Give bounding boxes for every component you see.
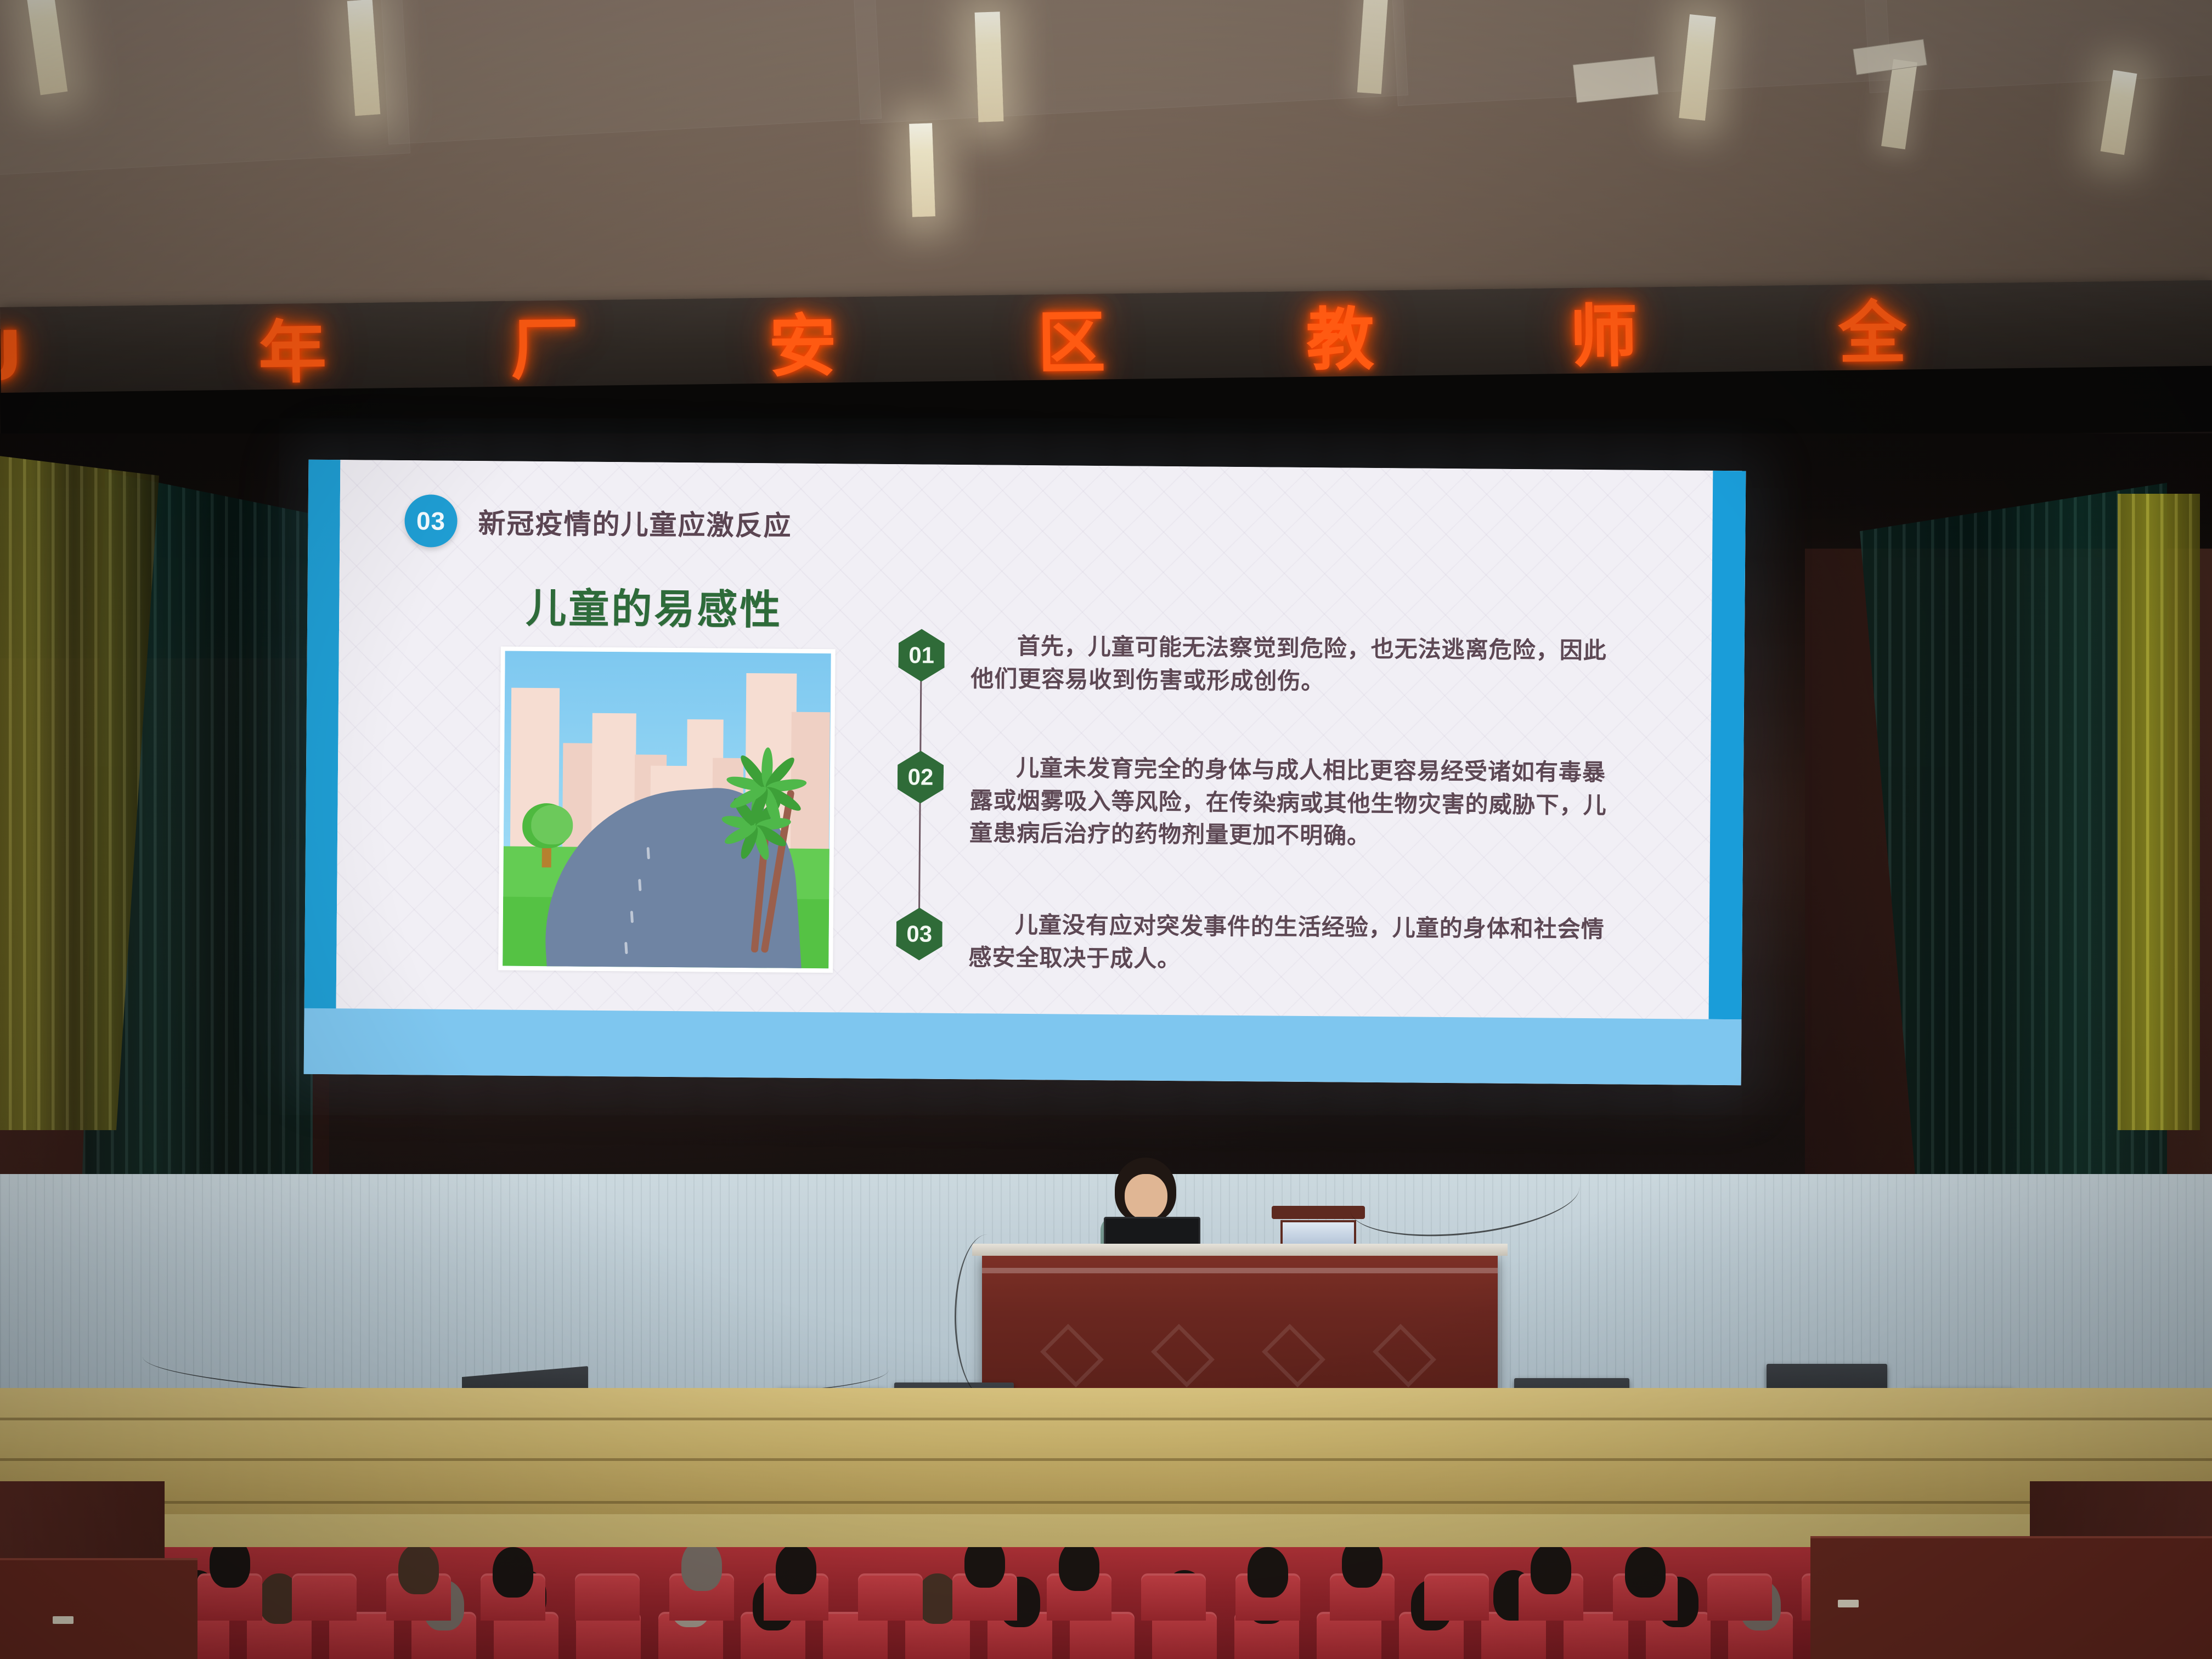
slide-content-area: 03 新冠疫情的儿童应激反应 儿童的易感性 (336, 460, 1746, 1085)
auditorium-seat (1707, 1573, 1772, 1621)
timeline-hexagon-badge: 02 (898, 751, 944, 804)
led-banner-character: 厂 (510, 315, 579, 385)
ceiling-light-icon (975, 12, 1004, 122)
aisle-lamp (53, 1616, 74, 1624)
led-banner-character: 区 (1037, 309, 1106, 378)
audience-member (493, 1547, 533, 1598)
ceiling-light-icon (2101, 70, 2137, 155)
slide-accent-bar-left (304, 460, 341, 1074)
timeline-item: 01 首先，儿童可能无法察觉到危险，也无法逃离危险，因此他们更容易收到伤害或形成… (898, 629, 1618, 700)
auditorium-photo: U年厂安区教师全 03 新冠疫情的儿童应激反应 (0, 0, 2212, 1659)
aisle-rail-right (1810, 1536, 2212, 1659)
timeline-item-text: 儿童未发育完全的身体与成人相比更容易经受诸如有毒暴露或烟雾吸入等风险，在传染病或… (969, 751, 1617, 854)
timeline-hexagon-badge: 03 (896, 907, 943, 961)
stage-curtain-yellow-right (2118, 494, 2200, 1130)
ceiling-light-icon (909, 123, 935, 217)
slide-header: 03 新冠疫情的儿童应激反应 (404, 494, 792, 550)
slide-accent-bar-right (1709, 471, 1746, 1019)
aisle-lamp (1838, 1600, 1859, 1607)
projection-screen: 03 新冠疫情的儿童应激反应 儿童的易感性 (304, 460, 1746, 1086)
timeline-hexagon-badge: 01 (898, 629, 945, 682)
auditorium-seat (575, 1573, 640, 1621)
audience-member (1531, 1547, 1571, 1594)
audience-member (210, 1547, 250, 1588)
timeline-item-text: 首先，儿童可能无法察觉到危险，也无法逃离危险，因此他们更容易收到伤害或形成创伤。 (970, 629, 1618, 700)
ceiling-vent (1573, 56, 1658, 103)
auditorium-seat (292, 1573, 357, 1621)
timeline-item-text: 儿童没有应对突发事件的生活经验，儿童的身体和社会情感安全取决于成人。 (968, 908, 1616, 979)
slide-section-title: 儿童的易感性 (526, 575, 783, 636)
led-banner-character: 年 (258, 319, 327, 388)
cable (955, 1234, 1020, 1399)
presenter-face (1125, 1174, 1167, 1220)
presenter-table (982, 1254, 1498, 1402)
slide-section-badge: 03 (404, 494, 458, 548)
audience-member (1248, 1547, 1288, 1598)
audience-member (1342, 1547, 1383, 1588)
timeline-item: 03 儿童没有应对突发事件的生活经验，儿童的身体和社会情感安全取决于成人。 (896, 907, 1616, 979)
audience-member (776, 1547, 816, 1594)
led-banner-character: 师 (1569, 303, 1638, 372)
slide-illustration (498, 646, 836, 973)
auditorium-seat (1424, 1573, 1489, 1621)
powerpoint-slide: 03 新冠疫情的儿童应激反应 儿童的易感性 (304, 460, 1746, 1086)
audience-member (917, 1573, 958, 1624)
led-banner-character: 安 (768, 312, 837, 381)
audience-member (681, 1547, 722, 1591)
audience-member (1625, 1547, 1666, 1598)
slide-bottom-band (304, 1008, 1742, 1086)
audience-member (1059, 1547, 1099, 1591)
led-banner-character: 全 (1838, 300, 1907, 369)
timeline-item: 02 儿童未发育完全的身体与成人相比更容易经受诸如有毒暴露或烟雾吸入等风险，在传… (897, 751, 1617, 854)
slide-timeline: 01 首先，儿童可能无法察觉到危险，也无法逃离危险，因此他们更容易收到伤害或形成… (896, 629, 1656, 964)
auditorium-seat (858, 1573, 923, 1621)
illustration-tree-crown (531, 805, 573, 845)
audience-member (964, 1547, 1005, 1588)
led-banner-character: U (0, 323, 24, 391)
audience-member (398, 1547, 439, 1594)
ceiling (0, 0, 2212, 329)
aisle-rail-left (0, 1558, 198, 1659)
auditorium-seat (1141, 1573, 1206, 1621)
led-banner-character: 教 (1306, 306, 1375, 375)
slide-header-title: 新冠疫情的儿童应激反应 (478, 501, 792, 543)
